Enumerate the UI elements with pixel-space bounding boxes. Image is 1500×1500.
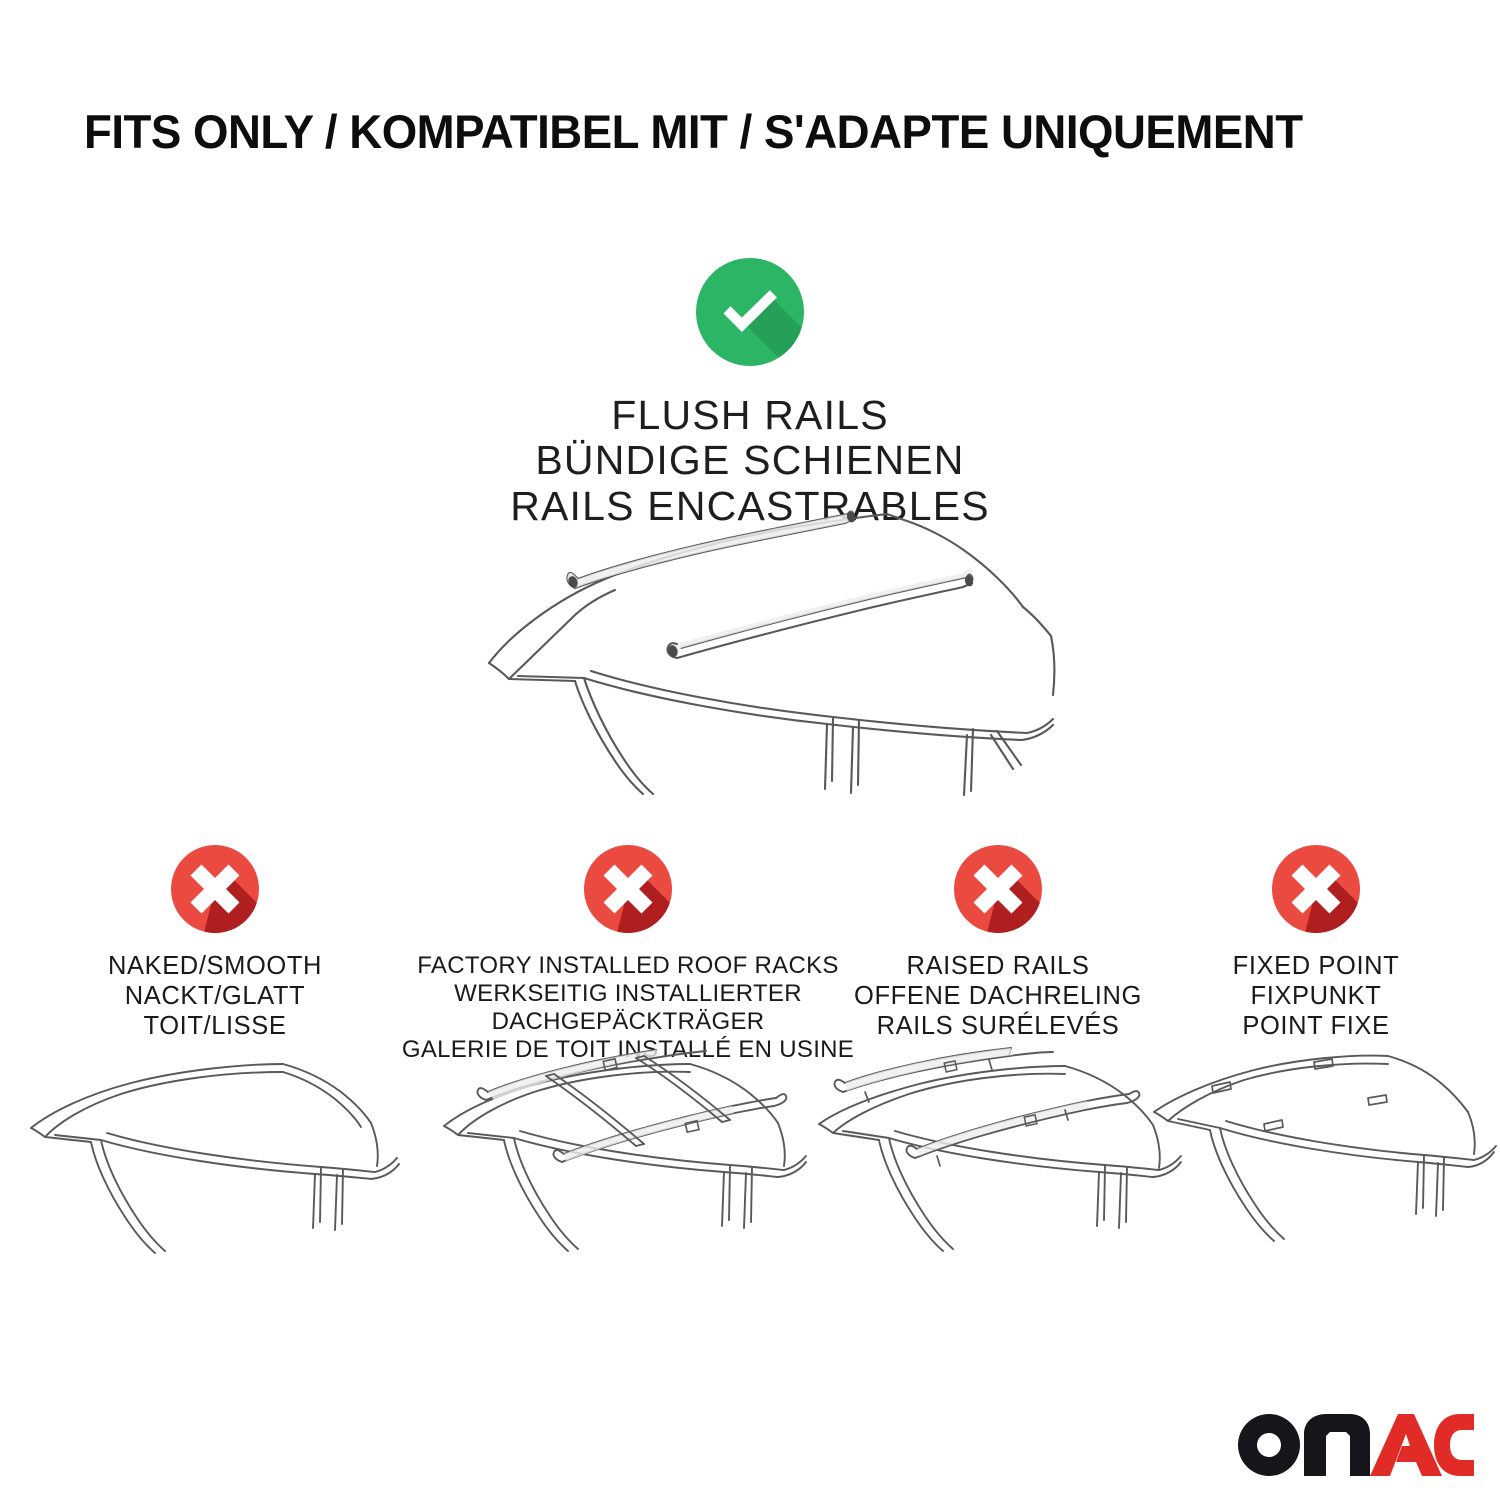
incompatible-section: NAKED/SMOOTH NACKT/GLATT TOIT/LISSE xyxy=(0,845,1500,1465)
red-x-circle-icon xyxy=(1272,845,1360,933)
label-line-en: NAKED/SMOOTH xyxy=(60,952,370,982)
label-line-de: NACKT/GLATT xyxy=(60,982,370,1012)
label-line-en: FIXED POINT xyxy=(1172,952,1460,982)
red-x-circle-icon xyxy=(171,845,259,933)
incompatible-label-group: RAISED RAILS OFFENE DACHRELING RAILS SUR… xyxy=(838,952,1158,1041)
car-roof-with-raised-rails-illustration xyxy=(803,1050,1193,1280)
incompatible-item-fixed-point: FIXED POINT FIXPUNKT POINT FIXE xyxy=(1172,845,1460,1041)
label-line-de-1: WERKSEITIG INSTALLIERTER xyxy=(398,980,858,1008)
car-roof-with-fixed-points-illustration xyxy=(1146,1050,1486,1280)
car-roof-bare-illustration xyxy=(25,1050,405,1280)
label-line-en: FACTORY INSTALLED ROOF RACKS xyxy=(398,952,858,980)
label-line-de-2: DACHGEPÄCKTRÄGER xyxy=(398,1008,858,1036)
logo-letter-m xyxy=(1304,1414,1370,1476)
incompatible-item-naked-smooth: NAKED/SMOOTH NACKT/GLATT TOIT/LISSE xyxy=(60,845,370,1041)
red-x-circle-icon xyxy=(954,845,1042,933)
omac-logo xyxy=(1238,1412,1474,1480)
logo-letter-o xyxy=(1238,1414,1300,1476)
label-line-de: OFFENE DACHRELING xyxy=(838,982,1158,1012)
label-line-fr: TOIT/LISSE xyxy=(60,1012,370,1042)
incompatible-label-group: NAKED/SMOOTH NACKT/GLATT TOIT/LISSE xyxy=(60,952,370,1041)
page-title: FITS ONLY / KOMPATIBEL MIT / S'ADAPTE UN… xyxy=(84,104,1384,159)
label-line-de: FIXPUNKT xyxy=(1172,982,1460,1012)
green-check-circle-icon xyxy=(696,258,804,366)
car-roof-with-flush-rails-illustration xyxy=(455,495,1065,795)
label-line-fr: POINT FIXE xyxy=(1172,1012,1460,1042)
logo-letter-c xyxy=(1434,1414,1474,1476)
red-x-circle-icon xyxy=(584,845,672,933)
logo-letter-a xyxy=(1370,1414,1442,1476)
incompatible-label-group: FACTORY INSTALLED ROOF RACKS WERKSEITIG … xyxy=(398,952,858,1064)
compatible-section: FLUSH RAILS BÜNDIGE SCHIENEN RAILS ENCAS… xyxy=(0,258,1500,529)
compatible-label-en: FLUSH RAILS xyxy=(0,393,1500,438)
incompatible-label-group: FIXED POINT FIXPUNKT POINT FIXE xyxy=(1172,952,1460,1041)
label-line-en: RAISED RAILS xyxy=(838,952,1158,982)
incompatible-item-raised-rails: RAISED RAILS OFFENE DACHRELING RAILS SUR… xyxy=(838,845,1158,1041)
incompatible-item-factory-roof-racks: FACTORY INSTALLED ROOF RACKS WERKSEITIG … xyxy=(398,845,858,1064)
compatible-label-de: BÜNDIGE SCHIENEN xyxy=(0,438,1500,483)
label-line-fr: RAILS SURÉLEVÉS xyxy=(838,1012,1158,1042)
car-roof-with-factory-rack-crossbars-illustration xyxy=(428,1050,828,1280)
